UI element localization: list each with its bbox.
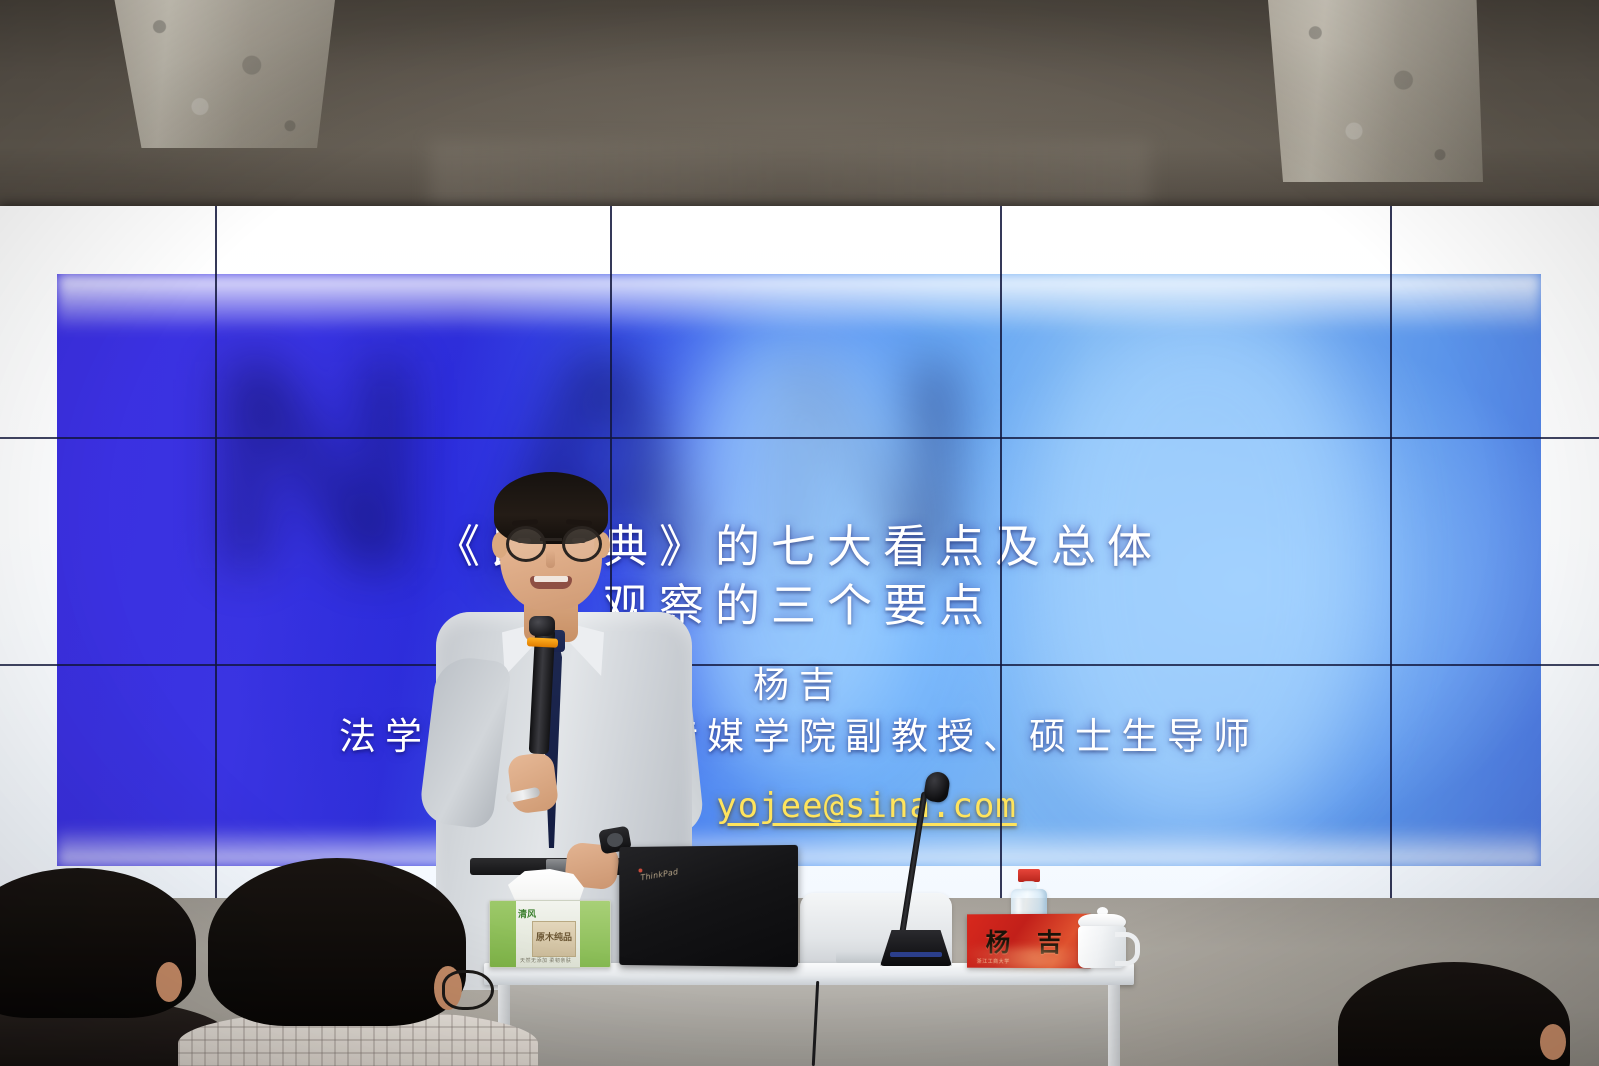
concrete-ceiling bbox=[0, 0, 1599, 210]
slide-title-line-1: 《民法典》的七大看点及总体 bbox=[57, 510, 1541, 575]
speaker-left-hand bbox=[507, 751, 560, 814]
presenter-desk bbox=[484, 963, 1134, 1066]
audience-front-center bbox=[198, 858, 498, 1066]
video-wall-bezel-v4 bbox=[1390, 206, 1392, 906]
thinkpad-logo: ThinkPad bbox=[640, 867, 679, 882]
slide-title-line-2: 观察的三个要点 bbox=[57, 569, 1541, 634]
tissue-box: 清风 原木纯品 天然无添加 柔韧亲肤 bbox=[489, 900, 611, 968]
ceiling-stain bbox=[430, 140, 1150, 210]
audience-front-right bbox=[1318, 962, 1598, 1066]
microphone-orange-band bbox=[527, 637, 558, 648]
tea-cup bbox=[1072, 906, 1134, 968]
tissue-product-label: 原木纯品 bbox=[532, 921, 576, 957]
thinkpad-logo-dot bbox=[638, 869, 642, 873]
speaker-mouth bbox=[530, 576, 572, 589]
video-wall-bezel-v3 bbox=[1000, 206, 1002, 906]
microphone-head bbox=[529, 616, 555, 636]
slide-presenter-title: 法学博士、浙江传媒学院副教授、硕士生导师 bbox=[57, 706, 1541, 760]
video-wall-bezel-h1 bbox=[0, 437, 1599, 439]
led-video-wall: N A N 《民法典》的七大看点及总体 观察的三个要点 杨吉 法学博士、浙江传媒… bbox=[0, 206, 1599, 906]
gooseneck-mic-base bbox=[880, 930, 952, 966]
thinkpad-laptop: ThinkPad bbox=[619, 845, 798, 967]
eyeglasses-icon bbox=[498, 526, 604, 556]
lecture-photo-scene: N A N 《民法典》的七大看点及总体 观察的三个要点 杨吉 法学博士、浙江传媒… bbox=[0, 0, 1599, 1066]
audience-front-left bbox=[0, 868, 210, 1066]
ceiling-pillar-right bbox=[1268, 0, 1483, 182]
name-plate-footer: 浙江工商大学 bbox=[977, 958, 1010, 965]
tissue-footnote: 天然无添加 柔韧亲肤 bbox=[520, 957, 571, 964]
slide-contact-email: yojee@sina.com bbox=[716, 786, 1017, 826]
audience-glasses-icon bbox=[442, 970, 494, 1010]
presentation-slide: N A N 《民法典》的七大看点及总体 观察的三个要点 杨吉 法学博士、浙江传媒… bbox=[57, 274, 1541, 866]
slide-contact-line: 邮箱：yojee@sina.com bbox=[57, 776, 1541, 828]
ceiling-pillar-left bbox=[110, 0, 335, 148]
video-wall-bezel-v1 bbox=[215, 206, 217, 906]
tissue-brand-label: 清风 bbox=[518, 907, 536, 920]
video-wall-bezel-h2 bbox=[0, 664, 1599, 666]
slide-text-block: 《民法典》的七大看点及总体 观察的三个要点 杨吉 法学博士、浙江传媒学院副教授、… bbox=[57, 274, 1541, 866]
